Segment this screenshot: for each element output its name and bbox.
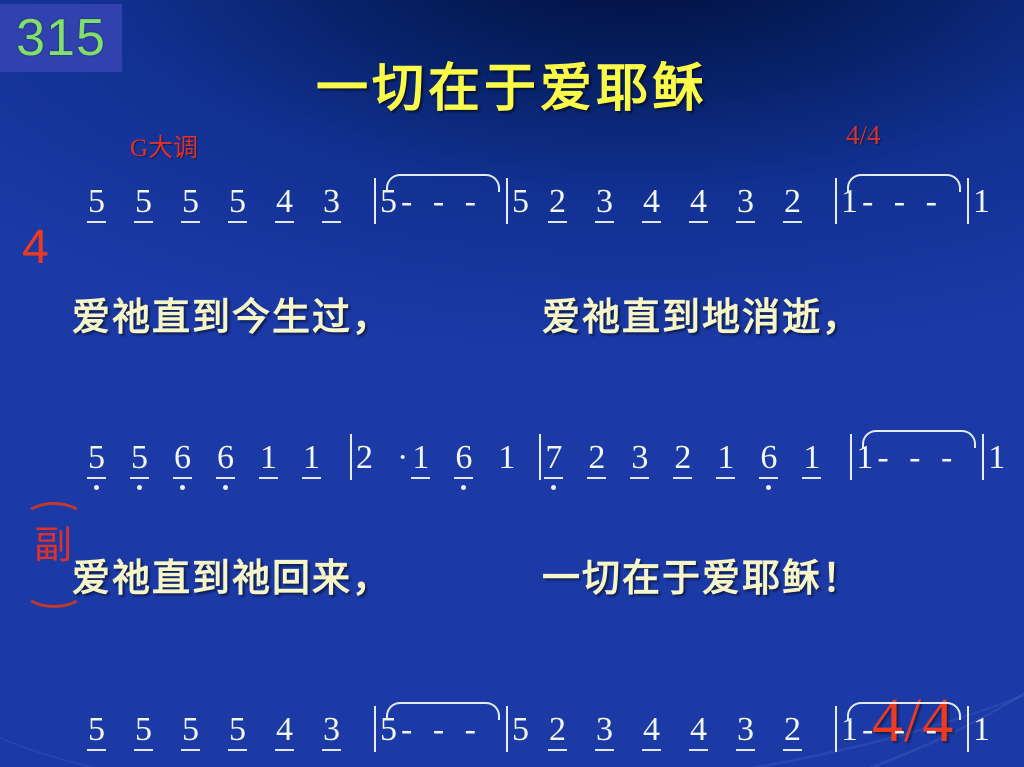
- note: 2: [549, 183, 566, 221]
- note: 3: [737, 183, 754, 221]
- key-signature-label: G大调: [130, 128, 198, 164]
- note: 4: [643, 183, 660, 221]
- note: 5: [512, 183, 529, 221]
- note: 5: [135, 711, 152, 749]
- note: 1: [412, 439, 429, 477]
- tie-arc: [847, 174, 961, 192]
- barline: [982, 434, 984, 480]
- notation-row: 5555435 - - -52344321 - - -1: [0, 706, 1024, 764]
- time-signature-top: 4/4: [846, 120, 881, 151]
- note: 3: [737, 711, 754, 749]
- note: 5: [88, 439, 105, 477]
- tie-arc: [847, 702, 961, 720]
- notation-row: 5555435 - - -52344321 - - -1: [0, 178, 1024, 236]
- barline: [835, 178, 837, 224]
- tie-arc: [386, 702, 500, 720]
- barline: [850, 434, 852, 480]
- note: 5: [229, 711, 246, 749]
- note: 2: [549, 711, 566, 749]
- note: 3: [596, 711, 613, 749]
- barline: [374, 178, 376, 224]
- lyric-phrase-b: 爱祂直到地消逝，: [542, 286, 862, 341]
- note: 6: [455, 439, 472, 477]
- note: 1: [260, 439, 277, 477]
- lyric-phrase-b: 一切在于爱耶稣！: [542, 547, 862, 602]
- slide-canvas: 315 一切在于爱耶稣 G大调 4/4 4/4 4 副 5555435 - - …: [0, 0, 1024, 767]
- lyric-phrase-a: 爱祂直到祂回来，: [72, 547, 392, 602]
- note: 6: [217, 439, 234, 477]
- note: 4: [690, 711, 707, 749]
- note: 7: [545, 439, 562, 477]
- barline: [506, 706, 508, 752]
- note: 4: [690, 183, 707, 221]
- note: 2: [674, 439, 691, 477]
- note: 6: [174, 439, 191, 477]
- lyric-row: 爱祂直到今生过，爱祂直到地消逝，: [0, 286, 1024, 342]
- note: 5: [88, 183, 105, 221]
- tie-arc: [386, 174, 500, 192]
- note: 2: [784, 183, 801, 221]
- barline: [350, 434, 352, 480]
- note: 4: [276, 711, 293, 749]
- note: 3: [631, 439, 648, 477]
- page-title: 一切在于爱耶稣: [0, 46, 1024, 121]
- note: 6: [760, 439, 777, 477]
- barline: [967, 178, 969, 224]
- barline: [374, 706, 376, 752]
- note: 1: [717, 439, 734, 477]
- note: 4: [276, 183, 293, 221]
- note: 2: [588, 439, 605, 477]
- note: 1: [973, 183, 990, 221]
- note: 3: [596, 183, 613, 221]
- note: 1: [973, 711, 990, 749]
- note: 1: [803, 439, 820, 477]
- barline: [967, 706, 969, 752]
- note: 5: [182, 711, 199, 749]
- note: 3: [323, 183, 340, 221]
- lyric-phrase-a: 爱祂直到今生过，: [72, 286, 392, 341]
- note: 5: [135, 183, 152, 221]
- note: 5: [512, 711, 529, 749]
- note: 5: [88, 711, 105, 749]
- barline: [539, 434, 541, 480]
- note: 5: [182, 183, 199, 221]
- note: 1: [988, 439, 1005, 477]
- note: 1: [498, 439, 515, 477]
- note: 5: [131, 439, 148, 477]
- lyric-row: 爱祂直到祂回来，一切在于爱耶稣！: [0, 547, 1024, 603]
- barline: [835, 706, 837, 752]
- notation-row: 5566112·16172321611 - - -1: [0, 434, 1024, 492]
- prolong-dot: ·: [393, 439, 412, 477]
- note: 5: [229, 183, 246, 221]
- note: 1: [303, 439, 320, 477]
- barline: [506, 178, 508, 224]
- note: 2: [356, 439, 373, 477]
- note: 3: [323, 711, 340, 749]
- note: 2: [784, 711, 801, 749]
- tie-arc: [862, 430, 976, 448]
- note: 4: [643, 711, 660, 749]
